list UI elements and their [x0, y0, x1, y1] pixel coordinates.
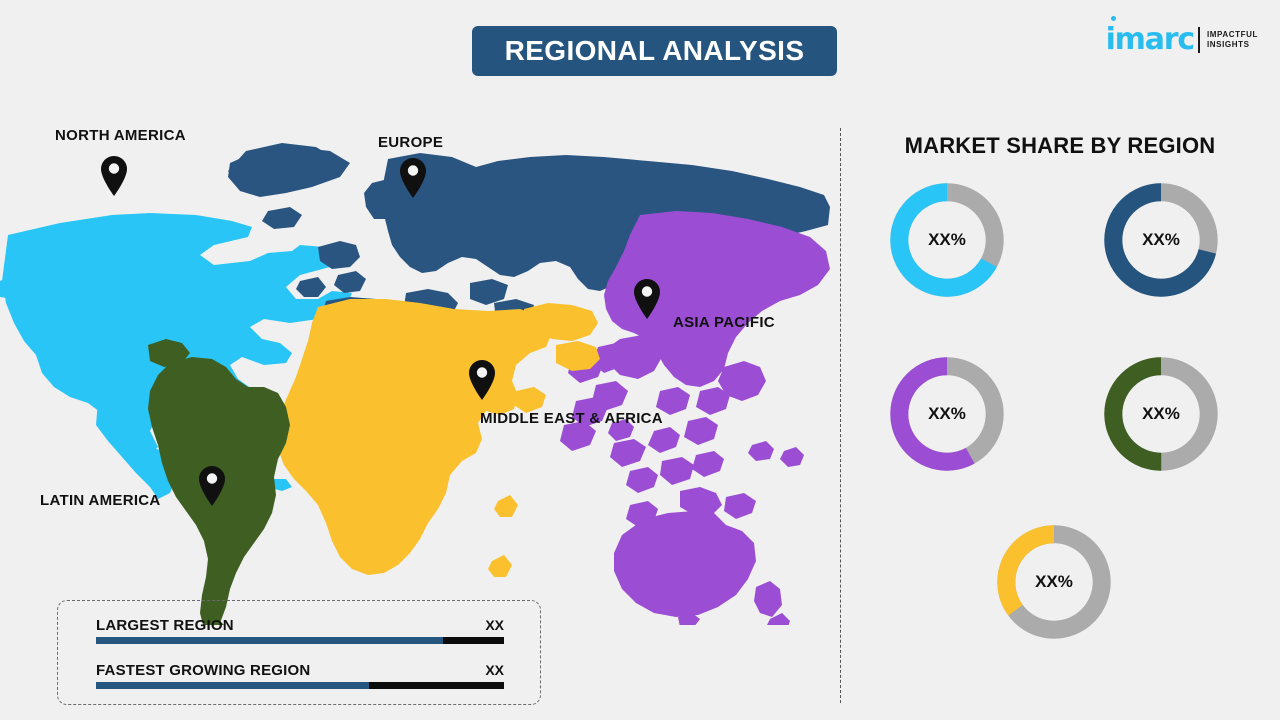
- map-label-latin-america: LATIN AMERICA: [40, 491, 161, 511]
- logo-wordmark-wrap: imarc: [1106, 25, 1194, 55]
- donut-asia-pacific: XX%: [884, 351, 1010, 477]
- map-label-north-america: NORTH AMERICA: [55, 126, 186, 146]
- donut-label-north-america: XX%: [884, 177, 1010, 303]
- legend-value-largest-region: XX: [485, 617, 504, 633]
- donut-north-america: XX%: [884, 177, 1010, 303]
- legend-bar-fastest-growing-region: [96, 682, 504, 689]
- donut-label-asia-pacific: XX%: [884, 351, 1010, 477]
- logo-wordmark: imarc: [1106, 25, 1194, 55]
- legend-row-head: FASTEST GROWING REGION XX: [96, 662, 504, 679]
- legend-value-fastest-growing-region: XX: [485, 662, 504, 678]
- donut-latin-america: XX%: [1098, 351, 1224, 477]
- map-pin-latin-america-icon[interactable]: [197, 465, 227, 507]
- legend-bar-largest-region: [96, 637, 504, 644]
- map-pin-europe-icon[interactable]: [398, 157, 428, 199]
- infographic-canvas: REGIONAL ANALYSIS imarc IMPACTFUL INSIGH…: [0, 0, 1280, 720]
- market-share-panel: MARKET SHARE BY REGION XX% XX% XX%: [840, 95, 1280, 720]
- legend-row-largest-region: LARGEST REGION XX: [96, 617, 504, 644]
- logo-tagline-line2: INSIGHTS: [1207, 40, 1258, 50]
- legend-label-largest-region: LARGEST REGION: [96, 617, 234, 634]
- logo-divider: [1198, 27, 1200, 53]
- map-label-middle-east-africa: MIDDLE EAST & AFRICA: [480, 409, 670, 429]
- legend-label-fastest-growing-region: FASTEST GROWING REGION: [96, 662, 310, 679]
- page-title: REGIONAL ANALYSIS: [505, 35, 805, 67]
- legend-bar-fill-fastest-growing-region: [96, 682, 369, 689]
- map-label-europe: EUROPE: [378, 133, 443, 153]
- map-label-asia-pacific: ASIA PACIFIC: [673, 313, 775, 333]
- legend-row-head: LARGEST REGION XX: [96, 617, 504, 634]
- donut-label-latin-america: XX%: [1098, 351, 1224, 477]
- market-share-title: MARKET SHARE BY REGION: [840, 133, 1280, 159]
- map-pin-middle-east-africa-icon[interactable]: [467, 359, 497, 401]
- map-region-greenland: [228, 143, 336, 193]
- map-pin-asia-pacific-icon[interactable]: [632, 278, 662, 320]
- map-region-middle-east-africa: [276, 299, 600, 577]
- legend-box: LARGEST REGION XX FASTEST GROWING REGION…: [57, 600, 541, 705]
- donut-label-europe: XX%: [1098, 177, 1224, 303]
- donut-middle-east-africa: XX%: [991, 519, 1117, 645]
- logo-tagline-line1: IMPACTFUL: [1207, 30, 1258, 40]
- map-pin-north-america-icon[interactable]: [99, 155, 129, 197]
- donut-label-middle-east-africa: XX%: [991, 519, 1117, 645]
- imarc-logo: imarc IMPACTFUL INSIGHTS: [1106, 20, 1258, 60]
- legend-bar-fill-largest-region: [96, 637, 443, 644]
- world-map-panel: [0, 95, 830, 625]
- logo-dot-icon: [1111, 16, 1116, 21]
- logo-tagline: IMPACTFUL INSIGHTS: [1207, 30, 1258, 50]
- legend-row-fastest-growing-region: FASTEST GROWING REGION XX: [96, 662, 504, 689]
- donut-europe: XX%: [1098, 177, 1224, 303]
- page-title-banner: REGIONAL ANALYSIS: [472, 26, 837, 76]
